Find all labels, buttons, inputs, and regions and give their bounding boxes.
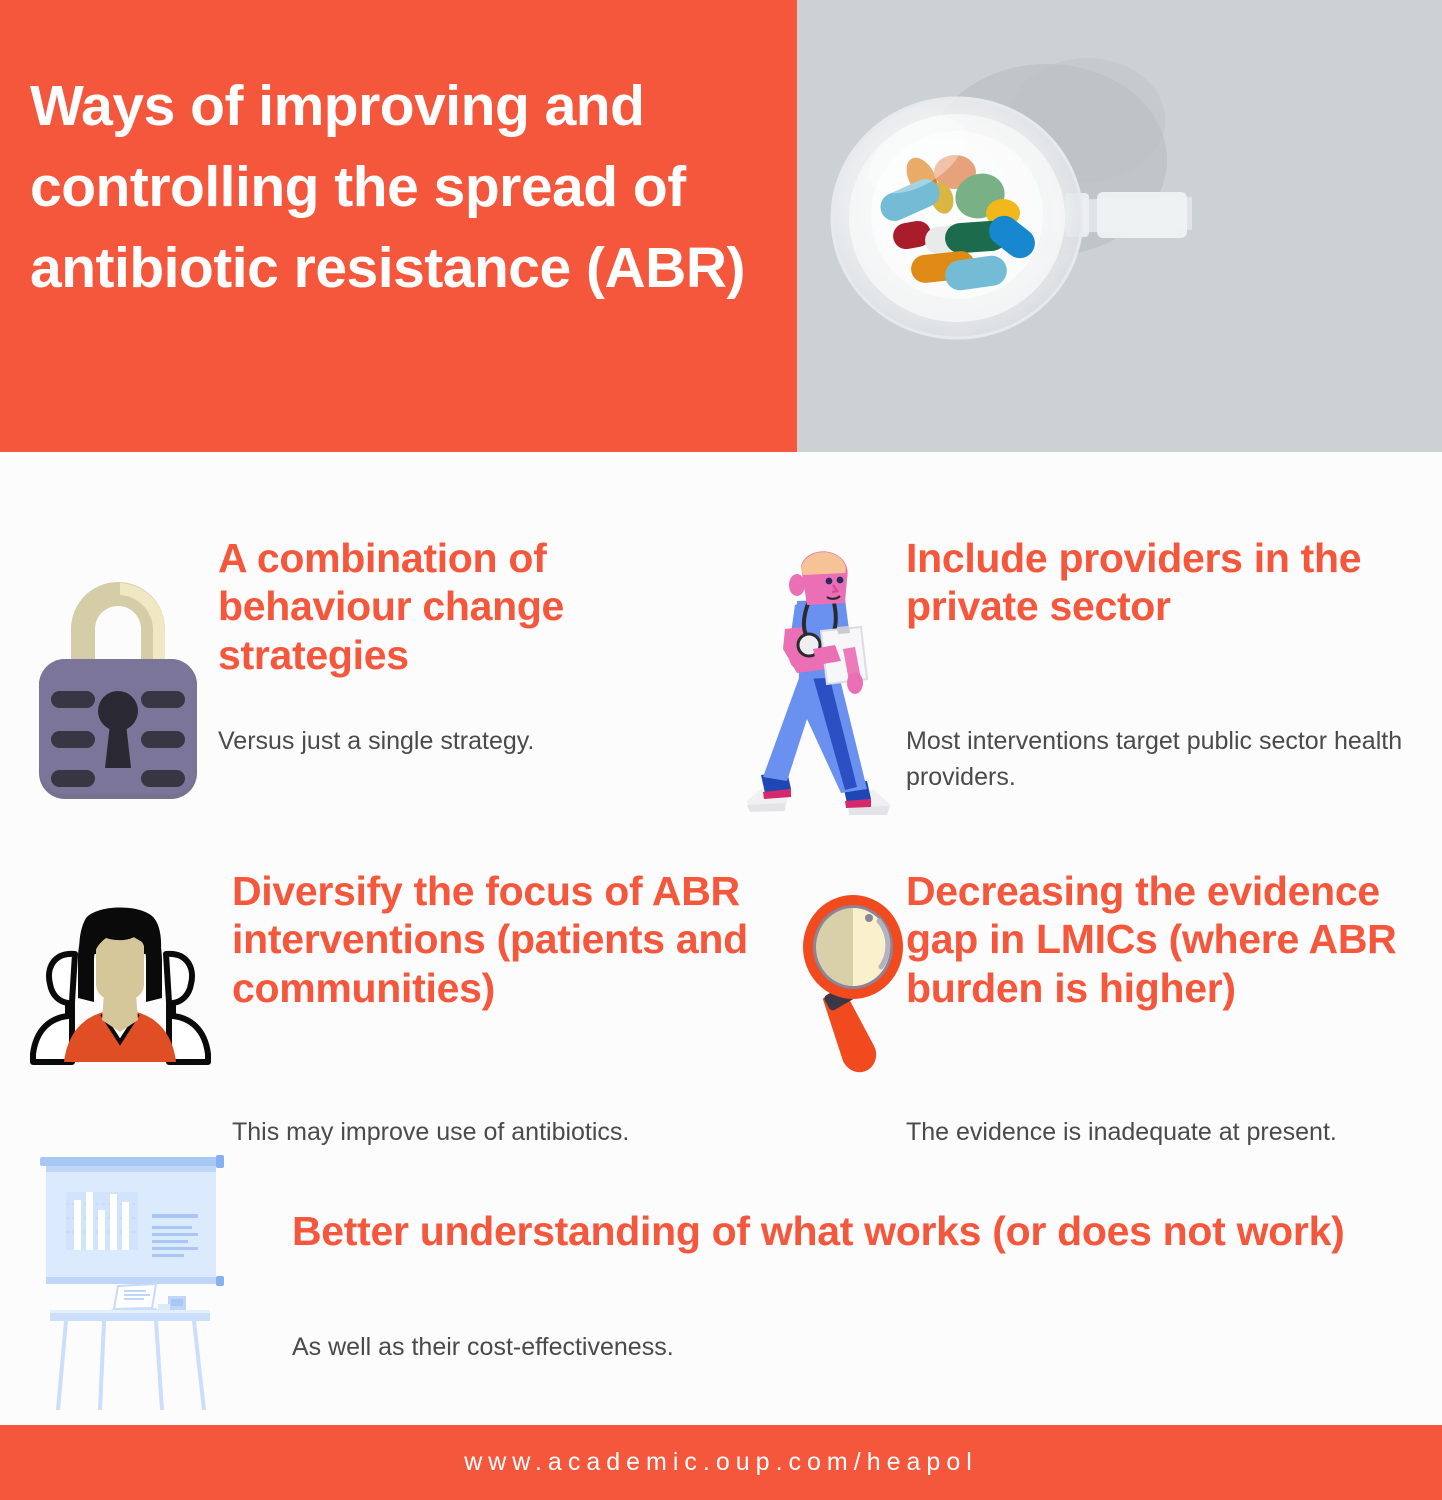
item-caption: The evidence is inadequate at present. bbox=[906, 1115, 1426, 1151]
item-heading: Diversify the focus of ABR interventions… bbox=[232, 867, 792, 1012]
item-heading: Decreasing the evidence gap in LMICs (wh… bbox=[906, 867, 1426, 1012]
header-title-panel: Ways of improving and controlling the sp… bbox=[0, 0, 797, 452]
item-heading: A combination of behaviour change strate… bbox=[218, 534, 698, 679]
item-private-providers: Include providers in the private sector … bbox=[720, 534, 1442, 864]
page-title: Ways of improving and controlling the sp… bbox=[30, 66, 760, 309]
item-heading: Better understanding of what works (or d… bbox=[292, 1207, 1352, 1255]
item-evidence-gap: Decreasing the evidence gap in LMICs (wh… bbox=[720, 867, 1442, 1157]
items-grid: A combination of behaviour change strate… bbox=[0, 452, 1442, 1425]
funnel-with-pills-illustration bbox=[797, 0, 1442, 452]
walking-doctor-icon bbox=[745, 549, 905, 824]
footer-bar: www.academic.oup.com/heapol bbox=[0, 1425, 1442, 1500]
item-diversify-focus: Diversify the focus of ABR interventions… bbox=[0, 867, 720, 1157]
item-better-understanding: Better understanding of what works (or d… bbox=[0, 1152, 1442, 1422]
magnifying-glass-icon bbox=[795, 885, 910, 1080]
item-caption: As well as their cost-effectiveness. bbox=[292, 1330, 1192, 1366]
footer-url[interactable]: www.academic.oup.com/heapol bbox=[464, 1448, 978, 1477]
padlock-icon bbox=[25, 559, 210, 799]
item-caption: Most interventions target public sector … bbox=[906, 724, 1416, 795]
presentation-board-icon bbox=[32, 1152, 232, 1417]
header-photo bbox=[797, 0, 1442, 452]
community-group-icon bbox=[20, 902, 220, 1067]
item-behaviour-change: A combination of behaviour change strate… bbox=[0, 534, 720, 864]
header: Ways of improving and controlling the sp… bbox=[0, 0, 1442, 452]
item-heading: Include providers in the private sector bbox=[906, 534, 1376, 631]
item-caption: Versus just a single strategy. bbox=[218, 724, 698, 760]
item-caption: This may improve use of antibiotics. bbox=[232, 1115, 752, 1151]
